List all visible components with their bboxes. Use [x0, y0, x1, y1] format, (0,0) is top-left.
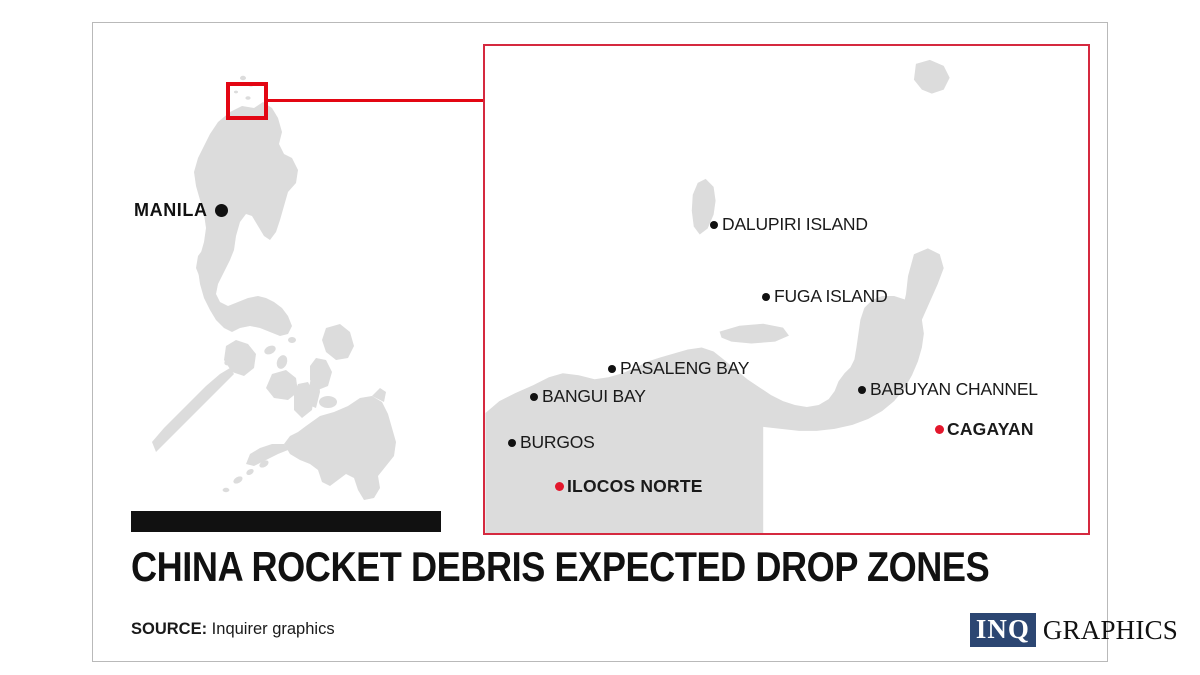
- marker-dot-black: [608, 365, 616, 373]
- infographic-canvas: MANILA DALUPIRI ISLAND: [0, 0, 1200, 675]
- title-rule: [131, 511, 441, 532]
- source-credit: SOURCE: Inquirer graphics: [131, 620, 335, 639]
- marker-dot-black: [530, 393, 538, 401]
- map-label-dalupiri-island: DALUPIRI ISLAND: [710, 214, 868, 235]
- map-label-manila: MANILA: [134, 200, 228, 221]
- page-title: CHINA ROCKET DEBRIS EXPECTED DROP ZONES: [131, 545, 871, 589]
- map-label-burgos: BURGOS: [508, 432, 595, 453]
- northern-luzon-detail-map: DALUPIRI ISLAND FUGA ISLAND PASALENG BAY…: [483, 44, 1090, 535]
- map-label-text: CAGAYAN: [947, 419, 1034, 440]
- source-value: Inquirer graphics: [207, 620, 334, 638]
- map-label-pasaleng-bay: PASALENG BAY: [608, 358, 749, 379]
- map-label-babuyan-channel: BABUYAN CHANNEL: [858, 379, 1038, 400]
- marker-dot-black: [858, 386, 866, 394]
- callout-connector-line: [266, 99, 485, 102]
- manila-marker-dot: [215, 204, 228, 217]
- marker-dot-red: [555, 482, 564, 491]
- map-label-text: BURGOS: [520, 432, 595, 453]
- marker-dot-black: [710, 221, 718, 229]
- map-label-text: DALUPIRI ISLAND: [722, 214, 868, 235]
- graphics-wordmark: GRAPHICS: [1043, 615, 1178, 645]
- map-label-cagayan: CAGAYAN: [935, 419, 1034, 440]
- marker-dot-red: [935, 425, 944, 434]
- philippines-locator-map: [130, 40, 430, 520]
- source-label: SOURCE:: [131, 620, 207, 638]
- marker-dot-black: [762, 293, 770, 301]
- map-label-text: BABUYAN CHANNEL: [870, 379, 1038, 400]
- map-label-bangui-bay: BANGUI BAY: [530, 386, 646, 407]
- map-label-text: BANGUI BAY: [542, 386, 646, 407]
- map-label-text: ILOCOS NORTE: [567, 476, 703, 497]
- map-label-text: FUGA ISLAND: [774, 286, 888, 307]
- map-label-ilocos-norte: ILOCOS NORTE: [555, 476, 703, 497]
- manila-label-text: MANILA: [134, 200, 208, 221]
- inq-graphics-logo: INQ GRAPHICS: [970, 613, 1178, 647]
- inq-badge: INQ: [970, 613, 1036, 647]
- marker-dot-black: [508, 439, 516, 447]
- locator-callout-box: [226, 82, 268, 120]
- map-label-fuga-island: FUGA ISLAND: [762, 286, 888, 307]
- philippines-landmass-shapes: [152, 76, 396, 500]
- map-label-text: PASALENG BAY: [620, 358, 749, 379]
